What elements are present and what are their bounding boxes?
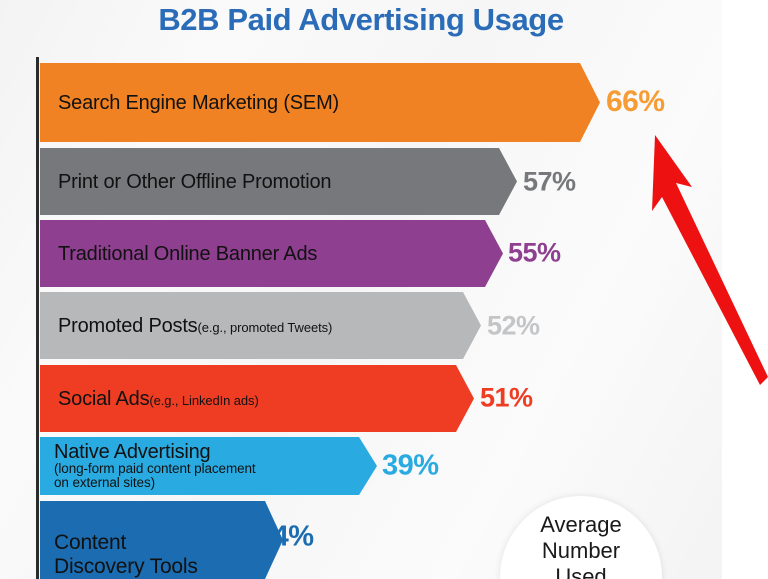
bar-label-main: Promoted Posts bbox=[58, 315, 198, 337]
average-number-callout-text: Average Number Used bbox=[500, 512, 662, 579]
callout-line-3: Used bbox=[500, 564, 662, 579]
bar-sublabel: (e.g., promoted Tweets) bbox=[198, 320, 333, 335]
callout-line-1: Average bbox=[500, 512, 662, 538]
callout-line-2: Number bbox=[500, 538, 662, 564]
bar-row[interactable]: Traditional Online Banner Ads bbox=[40, 220, 503, 287]
category-axis-line bbox=[36, 57, 39, 579]
bar-row[interactable]: Print or Other Offline Promotion bbox=[40, 148, 517, 215]
bar-value: 55% bbox=[508, 238, 561, 269]
bar-label-main: Social Ads bbox=[58, 388, 149, 410]
bar-label-line2: Discovery Tools bbox=[54, 555, 198, 579]
bar-label: Native Advertising (long-form paid conte… bbox=[54, 442, 256, 490]
bar-sublabel: (e.g., LinkedIn ads) bbox=[149, 393, 258, 408]
bar-label-main: Search Engine Marketing (SEM) bbox=[58, 92, 339, 114]
bar-label-main: Print or Other Offline Promotion bbox=[58, 171, 331, 193]
bar-row[interactable]: Social Ads(e.g., LinkedIn ads) bbox=[40, 365, 474, 432]
bar-label: Promoted Posts(e.g., promoted Tweets) bbox=[58, 316, 332, 336]
bar-label: Traditional Online Banner Ads bbox=[58, 244, 317, 264]
bar-value: 14% bbox=[257, 521, 314, 554]
bar-row[interactable]: Search Engine Marketing (SEM) bbox=[40, 63, 600, 142]
slide-canvas: B2B Paid Advertising Usage Search Engine… bbox=[0, 0, 768, 579]
bar-value: 66% bbox=[606, 85, 665, 119]
bar-label: Social Ads(e.g., LinkedIn ads) bbox=[58, 389, 259, 409]
bar-label: Content Discovery Tools bbox=[54, 531, 198, 578]
bar-value: 39% bbox=[382, 450, 439, 483]
bar-label-main: Native Advertising bbox=[54, 442, 256, 462]
bar-chart: Search Engine Marketing (SEM) 66% Print … bbox=[0, 0, 768, 579]
bar-label: Search Engine Marketing (SEM) bbox=[58, 93, 339, 113]
bar-sublabel-line1: (long-form paid content placement bbox=[54, 462, 256, 476]
bar-value: 57% bbox=[523, 167, 576, 198]
bar-label: Print or Other Offline Promotion bbox=[58, 172, 331, 192]
bar-sublabel-line2: on external sites) bbox=[54, 476, 256, 490]
bar-label-main: Traditional Online Banner Ads bbox=[58, 243, 317, 265]
bar-row[interactable]: Content Discovery Tools bbox=[40, 501, 283, 579]
bar-row[interactable]: Promoted Posts(e.g., promoted Tweets) bbox=[40, 292, 481, 359]
bar-label-line1: Content bbox=[54, 531, 198, 555]
bar-row[interactable]: Native Advertising (long-form paid conte… bbox=[40, 437, 377, 495]
bar-value: 52% bbox=[487, 311, 540, 342]
bar-value: 51% bbox=[480, 383, 533, 414]
